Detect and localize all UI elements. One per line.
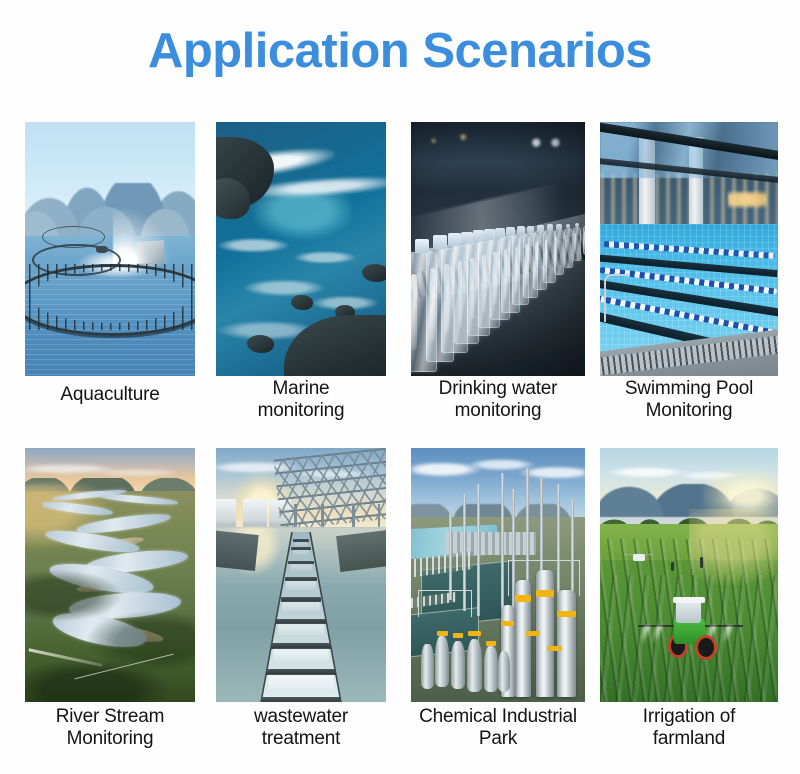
scenario-caption-aquaculture: Aquaculture — [13, 384, 207, 406]
scenario-card-drinking-water[interactable]: Drinking water monitoring — [411, 122, 585, 376]
tractor — [664, 600, 717, 656]
scenario-image-chemical-park — [411, 448, 585, 702]
scenario-card-wastewater[interactable]: wastewater treatment — [216, 448, 386, 702]
scenario-card-marine-monitoring[interactable]: Marine monitoring — [216, 122, 386, 376]
scenario-grid: Aquaculture Marine monitoring — [0, 0, 800, 774]
scenario-caption-river-stream: River Stream Monitoring — [13, 706, 207, 750]
scenario-caption-swimming-pool: Swimming Pool Monitoring — [592, 378, 786, 422]
scenario-caption-irrigation: Irrigation of farmland — [592, 706, 786, 750]
scenario-card-chemical-park[interactable]: Chemical Industrial Park — [411, 448, 585, 702]
scenario-caption-drinking-water: Drinking water monitoring — [401, 378, 595, 422]
scenario-image-aquaculture — [25, 122, 195, 376]
drone-icon — [625, 550, 653, 565]
scenario-caption-wastewater: wastewater treatment — [204, 706, 398, 750]
scenario-image-swimming-pool — [600, 122, 778, 376]
scenario-image-irrigation — [600, 448, 778, 702]
scenario-card-river-stream[interactable]: River Stream Monitoring — [25, 448, 195, 702]
scenario-card-irrigation[interactable]: Irrigation of farmland — [600, 448, 778, 702]
scenario-image-marine-monitoring — [216, 122, 386, 376]
scenario-card-swimming-pool[interactable]: Swimming Pool Monitoring — [600, 122, 778, 376]
scenario-caption-chemical-park: Chemical Industrial Park — [399, 706, 597, 750]
scenario-image-drinking-water — [411, 122, 585, 376]
scenario-image-river-stream — [25, 448, 195, 702]
scenario-caption-marine-monitoring: Marine monitoring — [204, 378, 398, 422]
scenario-card-aquaculture[interactable]: Aquaculture — [25, 122, 195, 376]
scenario-image-wastewater — [216, 448, 386, 702]
